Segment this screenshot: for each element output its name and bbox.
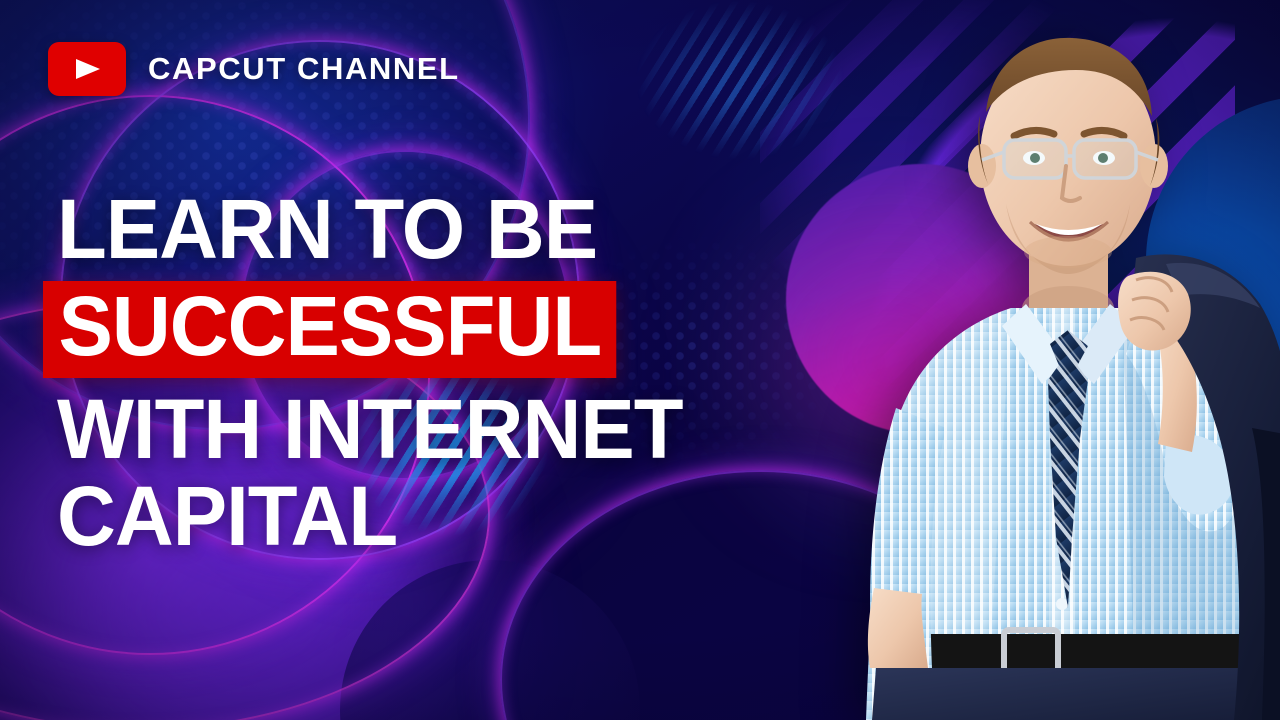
headline-block: LEARN TO BE SUCCESSFUL WITH INTERNET CAP…	[57, 188, 837, 559]
headline-line-3: WITH INTERNET	[57, 388, 814, 471]
channel-brand[interactable]: CAPCUT CHANNEL	[48, 42, 460, 96]
presenter-photo	[836, 8, 1280, 720]
youtube-play-icon[interactable]	[48, 42, 126, 96]
headline-line-2-highlighted: SUCCESSFUL	[43, 281, 617, 378]
headline-line-1: LEARN TO BE	[57, 188, 814, 271]
headline-line-4: CAPITAL	[57, 475, 814, 558]
channel-name: CAPCUT CHANNEL	[148, 51, 460, 87]
thumbnail-canvas: CAPCUT CHANNEL LEARN TO BE SUCCESSFUL WI…	[0, 0, 1280, 720]
